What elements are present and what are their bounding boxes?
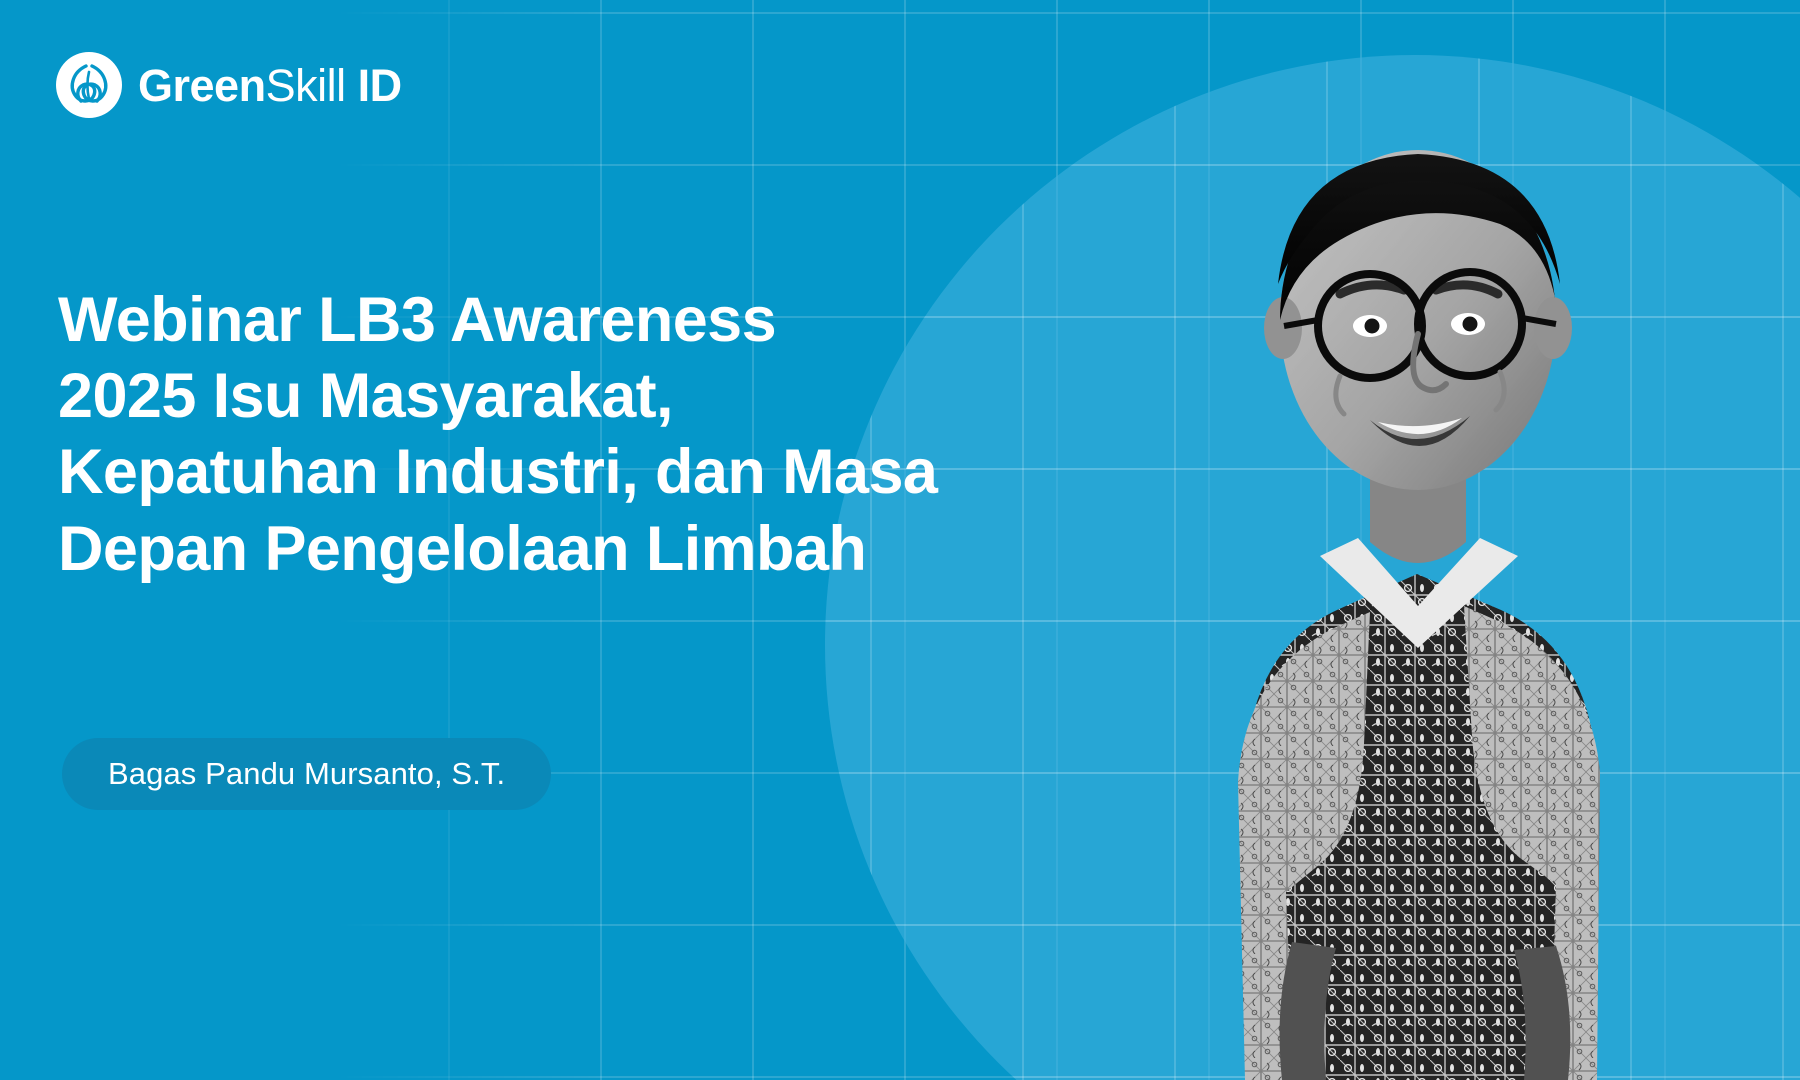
headline-line-3: Kepatuhan Industri, dan Masa bbox=[58, 434, 1068, 510]
headline-line-1: Webinar LB3 Awareness bbox=[58, 282, 1068, 358]
greenskill-leaf-mark-icon bbox=[56, 52, 122, 118]
logo-word-green: Green bbox=[138, 63, 266, 108]
speaker-name-label: Bagas Pandu Mursanto, S.T. bbox=[108, 756, 505, 792]
greenskill-logo[interactable]: GreenSkillID bbox=[56, 52, 402, 118]
webinar-promo-banner: GreenSkillID bbox=[0, 0, 1800, 1080]
speaker-portrait bbox=[1040, 70, 1800, 1080]
speaker-name-badge: Bagas Pandu Mursanto, S.T. bbox=[62, 738, 551, 810]
headline-line-2: 2025 Isu Masyarakat, bbox=[58, 358, 1068, 434]
logo-wordmark: GreenSkillID bbox=[138, 63, 402, 108]
headline-line-4: Depan Pengelolaan Limbah bbox=[58, 511, 1068, 587]
logo-word-skill: Skill bbox=[266, 63, 346, 108]
logo-word-id: ID bbox=[358, 63, 402, 108]
page-title: Webinar LB3 Awareness 2025 Isu Masyaraka… bbox=[58, 282, 1068, 587]
